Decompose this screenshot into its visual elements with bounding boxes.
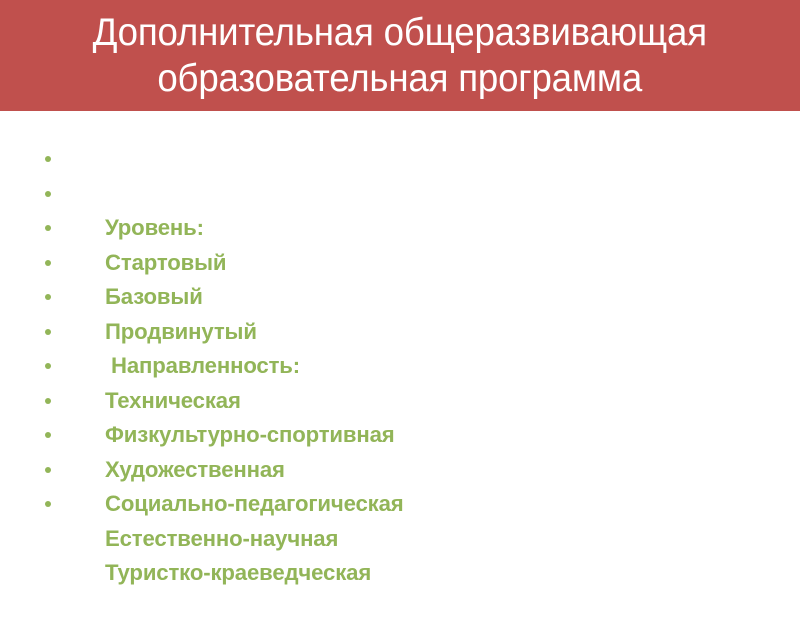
list-item: Социально-педагогическая <box>0 418 800 453</box>
list-item: Базовый <box>0 211 800 246</box>
title-banner: Дополнительная общеразвивающая образоват… <box>0 0 800 111</box>
bullet-dot-icon <box>45 294 51 300</box>
bullet-dot-icon <box>45 225 51 231</box>
list-item: Физкультурно-спортивная <box>0 349 800 384</box>
list-item-label: Естественно-научная <box>105 522 338 557</box>
bullet-dot-icon <box>45 329 51 335</box>
bullet-dot-icon <box>45 260 51 266</box>
bullet-dot-icon <box>45 191 51 197</box>
slide: Дополнительная общеразвивающая образоват… <box>0 0 800 600</box>
list-item: Направленность: <box>0 280 800 315</box>
list-item: Художественная <box>0 384 800 419</box>
bullet-dot-icon <box>45 467 51 473</box>
bullet-dot-icon <box>45 432 51 438</box>
bullet-dot-icon <box>45 501 51 507</box>
list-item-label: Туристко-краеведческая <box>105 556 371 591</box>
bullet-dot-icon <box>45 398 51 404</box>
list-item: Стартовый <box>0 177 800 212</box>
bullet-dot-icon <box>45 156 51 162</box>
slide-title: Дополнительная общеразвивающая образоват… <box>93 10 707 102</box>
bullet-list: Уровень: Стартовый Базовый Продвинутый Н… <box>0 142 800 522</box>
list-item: Продвинутый <box>0 246 800 281</box>
list-item: Техническая <box>0 315 800 350</box>
bullet-dot-icon <box>45 363 51 369</box>
list-item: Естественно-научная <box>0 453 800 488</box>
list-item: Туристко-краеведческая <box>0 487 800 522</box>
list-item: Уровень: <box>0 142 800 177</box>
